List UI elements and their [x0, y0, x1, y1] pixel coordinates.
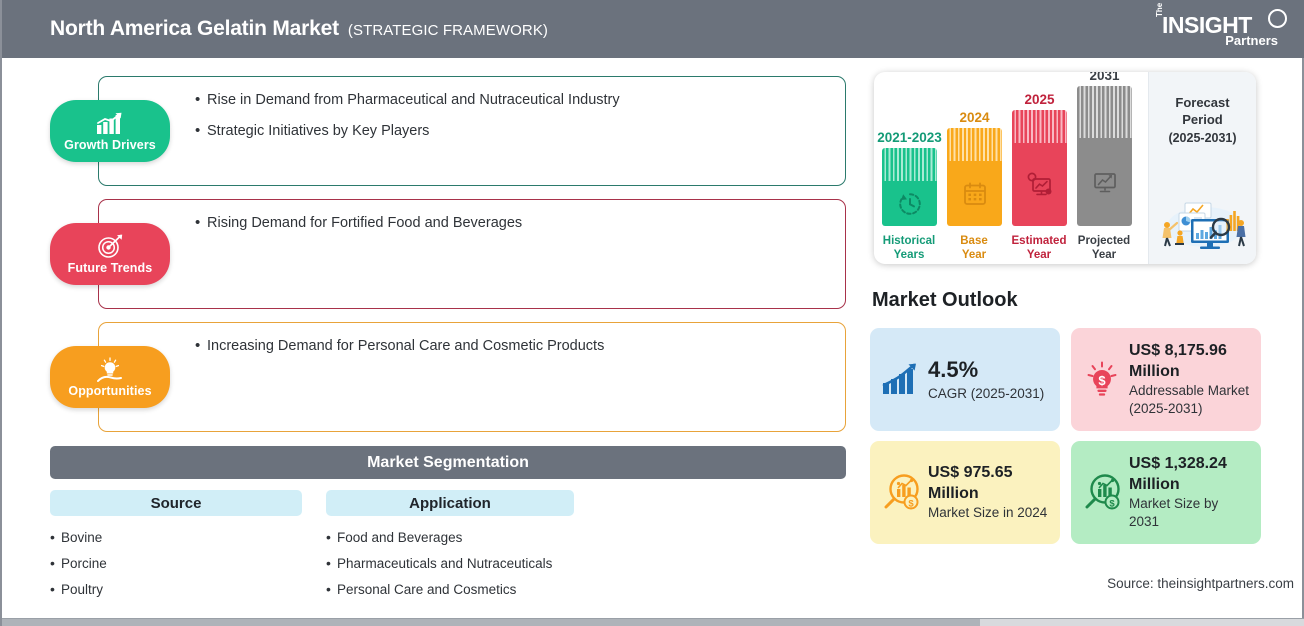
outlook-column: 2021-2023 20	[864, 58, 1304, 626]
caption-line2: Years	[894, 249, 925, 261]
insight-partners-logo: The INSIGHT Partners	[1153, 8, 1288, 50]
card-text: US$ 8,175.96 Million Addressable Market …	[1125, 341, 1252, 418]
badge-label: Growth Drivers	[64, 138, 156, 152]
calendar-icon	[962, 181, 988, 207]
page-header: North America Gelatin Market(STRATEGIC F…	[2, 0, 1304, 58]
card-label: Market Size in 2024	[928, 504, 1051, 522]
framework-row-growth-drivers: Rise in Demand from Pharmaceutical and N…	[98, 76, 846, 186]
timeline-bar	[882, 148, 937, 226]
bullet-item: Strategic Initiatives by Key Players	[195, 122, 845, 142]
target-dart-icon	[97, 234, 124, 260]
lightbulb-hand-icon	[95, 357, 125, 383]
page-title: North America Gelatin Market(STRATEGIC F…	[50, 17, 548, 41]
study-period-timeline: 2021-2023 20	[874, 72, 1256, 264]
infographic-page: North America Gelatin Market(STRATEGIC F…	[0, 0, 1304, 626]
svg-text:$: $	[908, 498, 914, 509]
timeline-caption-estimated: Estimated Year	[1012, 234, 1067, 262]
market-segmentation-header: Market Segmentation	[50, 446, 846, 479]
outlook-card-market-size-2031[interactable]: $ US$ 1,328.24 Million Market Size by 20…	[1071, 441, 1261, 544]
timeline-year-label: 2031	[1089, 72, 1119, 83]
bar-solid-body	[882, 181, 937, 226]
magnifier-chart-dollar-icon: $	[1079, 473, 1125, 513]
bar-chart-arrow-icon	[95, 111, 125, 137]
bar-stripe-top	[882, 148, 937, 181]
badge-future-trends[interactable]: Future Trends	[50, 223, 170, 285]
growth-drivers-bullets: Rise in Demand from Pharmaceutical and N…	[99, 77, 845, 141]
forecast-period-panel: Forecast Period (2025-2031)	[1148, 72, 1256, 264]
caption-line2: Year	[962, 249, 986, 261]
badge-label: Opportunities	[68, 384, 151, 398]
forecast-period-label: Forecast Period (2025-2031)	[1168, 94, 1236, 146]
list-item: Personal Care and Cosmetics	[326, 583, 574, 598]
list-item: Bovine	[50, 531, 302, 546]
card-value: US$ 8,175.96 Million	[1129, 342, 1227, 380]
framework-row-opportunities: Increasing Demand for Personal Care and …	[98, 322, 846, 432]
framework-column: Rise in Demand from Pharmaceutical and N…	[2, 58, 864, 626]
card-value: US$ 1,328.24 Million	[1129, 455, 1227, 493]
timeline-caption-historical: Historical Years	[883, 234, 935, 262]
market-outlook-title: Market Outlook	[872, 289, 1018, 312]
caption-line2: Year	[1092, 249, 1116, 261]
magnifier-chart-dollar-icon: $	[878, 473, 924, 513]
timeline-caption-projected: Projected Year	[1078, 234, 1130, 262]
card-text: US$ 975.65 Million Market Size in 2024	[924, 463, 1051, 522]
timeline-bars: 2021-2023 20	[882, 72, 1140, 264]
bar-solid-body	[1012, 143, 1067, 226]
horizontal-scrollbar[interactable]	[2, 618, 1304, 626]
bar-solid-body	[947, 161, 1002, 226]
outlook-card-addressable-market[interactable]: $ US$ 8,175.96 Million Addressable Marke…	[1071, 328, 1261, 431]
future-trends-bullets: Rising Demand for Fortified Food and Bev…	[99, 200, 845, 234]
card-label: Addressable Market (2025-2031)	[1129, 382, 1252, 418]
bar-stripe-top	[1012, 110, 1067, 143]
bullet-item: Rise in Demand from Pharmaceutical and N…	[195, 91, 845, 111]
caption-line2: Year	[1027, 249, 1051, 261]
card-label: CAGR (2025-2031)	[928, 385, 1051, 403]
segmentation-list: Bovine Porcine Poultry	[50, 531, 302, 598]
caption-line1: Projected	[1078, 235, 1130, 247]
caption-line1: Estimated	[1012, 235, 1067, 247]
badge-growth-drivers[interactable]: Growth Drivers	[50, 100, 170, 162]
opportunities-bullets: Increasing Demand for Personal Care and …	[99, 323, 845, 357]
badge-label: Future Trends	[68, 261, 153, 275]
clock-history-icon	[897, 191, 923, 217]
segmentation-column-header: Source	[50, 490, 302, 516]
segmentation-list: Food and Beverages Pharmaceuticals and N…	[326, 531, 574, 598]
timeline-bar	[1012, 110, 1067, 226]
logo-ring-icon	[1268, 9, 1287, 28]
logo-partners-text: Partners	[1225, 33, 1278, 48]
framework-row-future-trends: Rising Demand for Fortified Food and Bev…	[98, 199, 846, 309]
bar-stripe-top	[947, 128, 1002, 161]
title-subtitle: (STRATEGIC FRAMEWORK)	[348, 22, 548, 39]
timeline-year-label: 2021-2023	[877, 130, 942, 145]
forecast-line1: Forecast	[1175, 95, 1229, 110]
analytics-gear-icon	[1026, 172, 1054, 198]
timeline-year-label: 2024	[959, 110, 989, 125]
bullet-item: Rising Demand for Fortified Food and Bev…	[195, 214, 845, 234]
list-item: Porcine	[50, 557, 302, 572]
presentation-chart-icon	[1091, 170, 1119, 194]
segmentation-column-source: Source Bovine Porcine Poultry	[50, 490, 302, 609]
timeline-bar	[947, 128, 1002, 226]
list-item: Poultry	[50, 583, 302, 598]
bar-stripe-top	[1077, 86, 1132, 138]
data-analysis-illustration	[1155, 189, 1251, 256]
card-value: US$ 975.65 Million	[928, 464, 1013, 502]
timeline-year-label: 2025	[1024, 92, 1054, 107]
caption-line1: Historical	[883, 235, 935, 247]
source-attribution: Source: theinsightpartners.com	[1107, 576, 1294, 591]
forecast-range: (2025-2031)	[1168, 131, 1236, 145]
bulb-dollar-icon: $	[1079, 361, 1125, 399]
caption-line1: Base	[960, 235, 988, 247]
list-item: Food and Beverages	[326, 531, 574, 546]
segmentation-column-application: Application Food and Beverages Pharmaceu…	[326, 490, 574, 609]
badge-opportunities[interactable]: Opportunities	[50, 346, 170, 408]
growth-chart-icon	[878, 363, 924, 397]
title-main: North America Gelatin Market	[50, 17, 339, 40]
card-text: 4.5% CAGR (2025-2031)	[924, 356, 1051, 402]
list-item: Pharmaceuticals and Nutraceuticals	[326, 557, 574, 572]
timeline-bar	[1077, 86, 1132, 226]
svg-text:$: $	[1098, 373, 1106, 388]
card-text: US$ 1,328.24 Million Market Size by 2031	[1125, 454, 1252, 531]
forecast-line2: Period	[1182, 112, 1222, 127]
scrollbar-thumb[interactable]	[2, 619, 980, 626]
card-value: 4.5%	[928, 357, 978, 382]
bullet-item: Increasing Demand for Personal Care and …	[195, 337, 845, 357]
outlook-card-market-size-2024[interactable]: $ US$ 975.65 Million Market Size in 2024	[870, 441, 1060, 544]
card-label: Market Size by 2031	[1129, 495, 1252, 531]
timeline-caption-base: Base Year	[960, 234, 988, 262]
svg-text:$: $	[1109, 498, 1115, 509]
segmentation-column-header: Application	[326, 490, 574, 516]
outlook-card-cagr[interactable]: 4.5% CAGR (2025-2031)	[870, 328, 1060, 431]
bar-solid-body	[1077, 138, 1132, 226]
